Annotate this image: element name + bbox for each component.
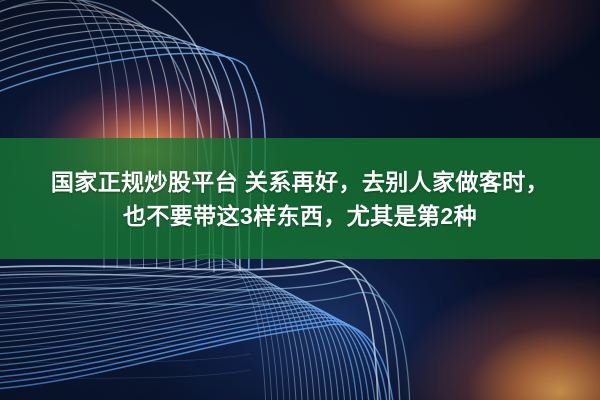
caption-line-1: 国家正规炒股平台 关系再好，去别人家做客时， bbox=[51, 165, 549, 199]
caption-line-2: 也不要带这3样东西，尤其是第2种 bbox=[123, 199, 477, 233]
banner-image: 国家正规炒股平台 关系再好，去别人家做客时， 也不要带这3样东西，尤其是第2种 bbox=[0, 0, 600, 400]
caption-band: 国家正规炒股平台 关系再好，去别人家做客时， 也不要带这3样东西，尤其是第2种 bbox=[0, 138, 600, 259]
